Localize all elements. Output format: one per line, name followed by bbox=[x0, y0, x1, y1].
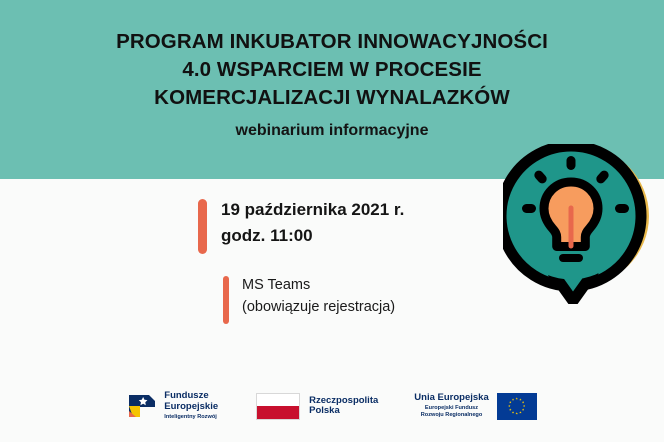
rp-line-2: Polska bbox=[309, 406, 378, 417]
page-title: PROGRAM INKUBATOR INNOWACYJNOŚCI 4.0 WSP… bbox=[0, 28, 664, 142]
flag-white-stripe bbox=[257, 394, 299, 407]
title-line-3: KOMERCJALIZACJI WYNALAZKÓW bbox=[0, 84, 664, 112]
ue-fund-line-1: Europejski Fundusz bbox=[414, 405, 488, 412]
eu-star-icon bbox=[509, 408, 512, 411]
eu-star-icon bbox=[523, 405, 526, 408]
event-platform-row: MS Teams (obowiązuje rejestracja) bbox=[223, 274, 404, 324]
eu-star-icon bbox=[515, 412, 518, 415]
fe-line-2: Europejskie bbox=[164, 402, 218, 413]
flag-red-stripe bbox=[257, 406, 299, 419]
eu-star-icon bbox=[509, 401, 512, 404]
logo-fundusze-europejskie: Fundusze Europejskie Inteligentny Rozwój bbox=[127, 388, 218, 424]
title-line-1: PROGRAM INKUBATOR INNOWACYJNOŚCI bbox=[0, 28, 664, 56]
rzeczpospolita-polska-text: Rzeczpospolita Polska bbox=[309, 396, 378, 417]
eu-star-icon bbox=[512, 398, 515, 401]
platform-accent-bar bbox=[223, 276, 229, 324]
ue-fund-line-2: Rozwoju Regionalnego bbox=[414, 412, 488, 419]
event-platform-text: MS Teams (obowiązuje rejestracja) bbox=[242, 274, 395, 318]
fe-programme: Inteligentny Rozwój bbox=[164, 414, 218, 421]
eu-star-icon bbox=[519, 411, 522, 414]
event-date-row: 19 października 2021 r. godz. 11:00 bbox=[198, 197, 404, 254]
eu-flag-icon bbox=[497, 393, 537, 420]
fundusze-europejskie-mark bbox=[127, 392, 157, 420]
poland-flag-icon bbox=[256, 393, 300, 420]
event-date-text: 19 października 2021 r. godz. 11:00 bbox=[221, 197, 404, 249]
eu-star-icon bbox=[515, 397, 518, 400]
speech-bubble-lightbulb-icon bbox=[503, 144, 653, 304]
logo-unia-europejska: Unia Europejska Europejski Fundusz Rozwo… bbox=[414, 388, 536, 424]
event-registration-note: (obowiązuje rejestracja) bbox=[242, 296, 395, 318]
webinar-poster: PROGRAM INKUBATOR INNOWACYJNOŚCI 4.0 WSP… bbox=[0, 0, 664, 442]
title-line-2: 4.0 WSPARCIEM W PROCESIE bbox=[0, 56, 664, 84]
logo-rzeczpospolita-polska: Rzeczpospolita Polska bbox=[256, 388, 378, 424]
fe-line-1: Fundusze bbox=[164, 391, 218, 402]
event-platform: MS Teams bbox=[242, 274, 395, 296]
eu-star-icon bbox=[512, 411, 515, 414]
eu-star-icon bbox=[522, 401, 525, 404]
event-time: godz. 11:00 bbox=[221, 223, 404, 249]
ue-line-1: Unia Europejska bbox=[414, 393, 488, 404]
unia-europejska-text: Unia Europejska Europejski Fundusz Rozwo… bbox=[414, 393, 488, 419]
page-subtitle: webinarium informacyjne bbox=[0, 120, 664, 142]
eu-star-icon bbox=[522, 408, 525, 411]
event-date: 19 października 2021 r. bbox=[221, 197, 404, 223]
fundusze-europejskie-text: Fundusze Europejskie Inteligentny Rozwój bbox=[164, 391, 218, 421]
event-details: 19 października 2021 r. godz. 11:00 MS T… bbox=[198, 197, 404, 324]
eu-star-icon bbox=[508, 405, 511, 408]
eu-funding-logo-strip: Fundusze Europejskie Inteligentny Rozwój… bbox=[0, 384, 664, 428]
date-accent-bar bbox=[198, 199, 207, 254]
